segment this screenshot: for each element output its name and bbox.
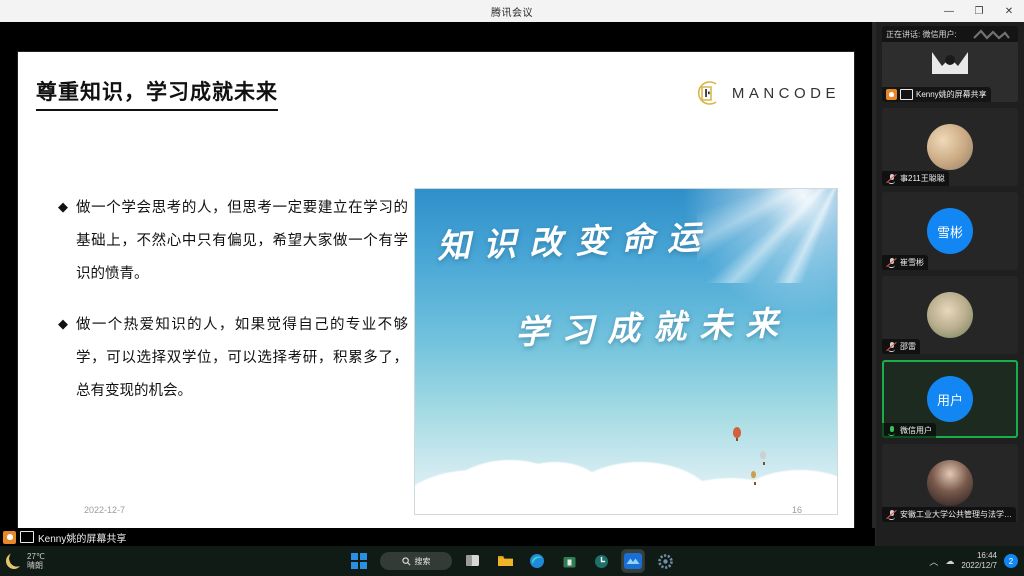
speaking-indicator: 正在讲话: 微信用户: [882, 26, 1018, 42]
windows-start-icon[interactable] [348, 550, 370, 572]
avatar [927, 124, 973, 170]
clock-time: 16:44 [961, 551, 997, 561]
screen-share-label: Kenny姚的屏幕共享 [38, 530, 126, 545]
mic-muted-icon [886, 173, 897, 184]
window-title-bar: 腾讯会议 — ❐ ✕ [0, 0, 1024, 23]
participant-name-bar: 安徽工业大学公共管理与法学院叶冰... [882, 507, 1016, 522]
presentation-slide: 尊重知识，学习成就未来 MANCODE ◆ 做一个学会思考的人，但思考一定要建立… [18, 52, 854, 531]
participant-tile[interactable]: 事211王聪聪 [882, 108, 1018, 186]
participant-tile[interactable]: 邵雷 [882, 276, 1018, 354]
participant-name: 崔雪彬 [900, 257, 924, 268]
avatar [927, 292, 973, 338]
minimize-button[interactable]: — [934, 0, 964, 22]
edge-browser-icon[interactable] [526, 550, 548, 572]
avatar: 用户 [927, 376, 973, 422]
participant-rail[interactable]: 正在讲话: 微信用户: Kenny姚的屏幕共享 [876, 22, 1024, 546]
participant-name: 安徽工业大学公共管理与法学院叶冰... [900, 509, 1012, 520]
taskbar-weather-widget[interactable]: 27℃ 晴朗 [6, 552, 45, 570]
sun-rays-decoration [697, 188, 838, 283]
search-placeholder: 搜索 [415, 556, 431, 567]
slide-page-number: 16 [792, 505, 802, 515]
slide-title: 尊重知识，学习成就未来 [36, 76, 278, 111]
clock-date: 2022/12/7 [961, 561, 997, 571]
store-icon[interactable] [558, 550, 580, 572]
host-person-icon [886, 89, 897, 100]
taskbar-app-icons[interactable]: 搜索 [348, 550, 676, 572]
bullet-marker-icon: ◆ [58, 309, 68, 339]
participant-name-bar: 微信用户 [882, 423, 936, 438]
search-input[interactable]: 搜索 [380, 552, 452, 570]
task-view-icon[interactable] [462, 550, 484, 572]
mic-muted-icon [886, 257, 897, 268]
participant-tile[interactable]: 雪彬 崔雪彬 [882, 192, 1018, 270]
hot-air-balloon-icon [751, 471, 756, 478]
hot-air-balloon-icon [760, 451, 766, 459]
screen-share-icon [900, 89, 913, 100]
avatar [924, 44, 976, 84]
weather-condition: 晴朗 [27, 561, 45, 570]
close-button[interactable]: ✕ [994, 0, 1024, 22]
window-title: 腾讯会议 [491, 4, 533, 19]
mancode-mark-icon [693, 78, 723, 108]
participant-name: 事211王聪聪 [900, 173, 945, 184]
illustration-line-1: 知识改变命运 [436, 210, 714, 268]
tencent-meeting-icon[interactable] [622, 550, 644, 572]
tencent-meeting-window: 腾讯会议 — ❐ ✕ 尊重知识，学习成就未来 MANCODE [0, 0, 1024, 576]
illustration-line-2: 学习成就未来 [514, 296, 792, 354]
host-person-icon [3, 531, 16, 544]
windows-taskbar[interactable]: 27℃ 晴朗 搜索 [0, 546, 1024, 576]
cloud-icon[interactable]: ☁ [945, 556, 954, 567]
system-tray[interactable]: ︿ ☁ 16:44 2022/12/7 2 [929, 551, 1018, 571]
window-controls: — ❐ ✕ [934, 0, 1024, 22]
participant-tile[interactable]: 安徽工业大学公共管理与法学院叶冰... [882, 444, 1018, 522]
participant-name: Kenny姚的屏幕共享 [916, 89, 987, 100]
participant-name-bar: 崔雪彬 [882, 255, 928, 270]
participant-tile-screen-share[interactable]: 正在讲话: 微信用户: Kenny姚的屏幕共享 [882, 26, 1018, 102]
bullet-text: 做一个热爱知识的人，如果觉得自己的专业不够学，可以选择双学位，可以选择考研，积累… [76, 309, 408, 408]
screen-share-icon [20, 531, 34, 543]
participant-name: 微信用户 [900, 425, 932, 436]
bullet-item: ◆ 做一个热爱知识的人，如果觉得自己的专业不够学，可以选择双学位，可以选择考研，… [58, 309, 408, 408]
taskbar-clock[interactable]: 16:44 2022/12/7 [961, 551, 997, 571]
slide-bullet-list: ◆ 做一个学会思考的人，但思考一定要建立在学习的基础上，不然心中只有偏见，希望大… [58, 192, 408, 426]
shared-screen-stage: 尊重知识，学习成就未来 MANCODE ◆ 做一个学会思考的人，但思考一定要建立… [0, 22, 872, 546]
screen-share-thumbnail-icon [924, 46, 976, 82]
clouds-decoration [415, 400, 837, 515]
mancode-logo: MANCODE [693, 78, 840, 108]
hot-air-balloon-icon [733, 427, 741, 438]
slide-date: 2022-12-7 [84, 505, 125, 515]
mic-on-icon [886, 425, 897, 436]
avatar: 雪彬 [927, 208, 973, 254]
screen-share-banner: Kenny姚的屏幕共享 [0, 528, 875, 546]
avatar [927, 460, 973, 506]
chevron-up-icon[interactable]: ︿ [929, 555, 938, 568]
speaking-label: 正在讲话: 微信用户: [886, 29, 957, 40]
maximize-button[interactable]: ❐ [964, 0, 994, 22]
search-icon [402, 557, 411, 566]
mic-muted-icon [886, 341, 897, 352]
settings-gear-icon[interactable] [654, 550, 676, 572]
notification-badge[interactable]: 2 [1004, 554, 1018, 568]
slide-illustration: 知识改变命运 学习成就未来 [414, 188, 838, 515]
audio-wave-icon [972, 28, 1010, 40]
participant-tile-active-speaker[interactable]: 用户 微信用户 [882, 360, 1018, 438]
bullet-marker-icon: ◆ [58, 192, 68, 222]
participant-name-bar: 邵雷 [882, 339, 920, 354]
outlook-icon[interactable] [590, 550, 612, 572]
participant-name-bar: Kenny姚的屏幕共享 [882, 87, 991, 102]
bullet-item: ◆ 做一个学会思考的人，但思考一定要建立在学习的基础上，不然心中只有偏见，希望大… [58, 192, 408, 291]
weather-temperature: 27℃ [27, 552, 45, 561]
mic-muted-icon [886, 509, 897, 520]
participant-name-bar: 事211王聪聪 [882, 171, 949, 186]
moon-icon [6, 553, 22, 569]
file-explorer-icon[interactable] [494, 550, 516, 572]
mancode-logo-text: MANCODE [732, 85, 840, 102]
bullet-text: 做一个学会思考的人，但思考一定要建立在学习的基础上，不然心中只有偏见，希望大家做… [76, 192, 408, 291]
participant-name: 邵雷 [900, 341, 916, 352]
